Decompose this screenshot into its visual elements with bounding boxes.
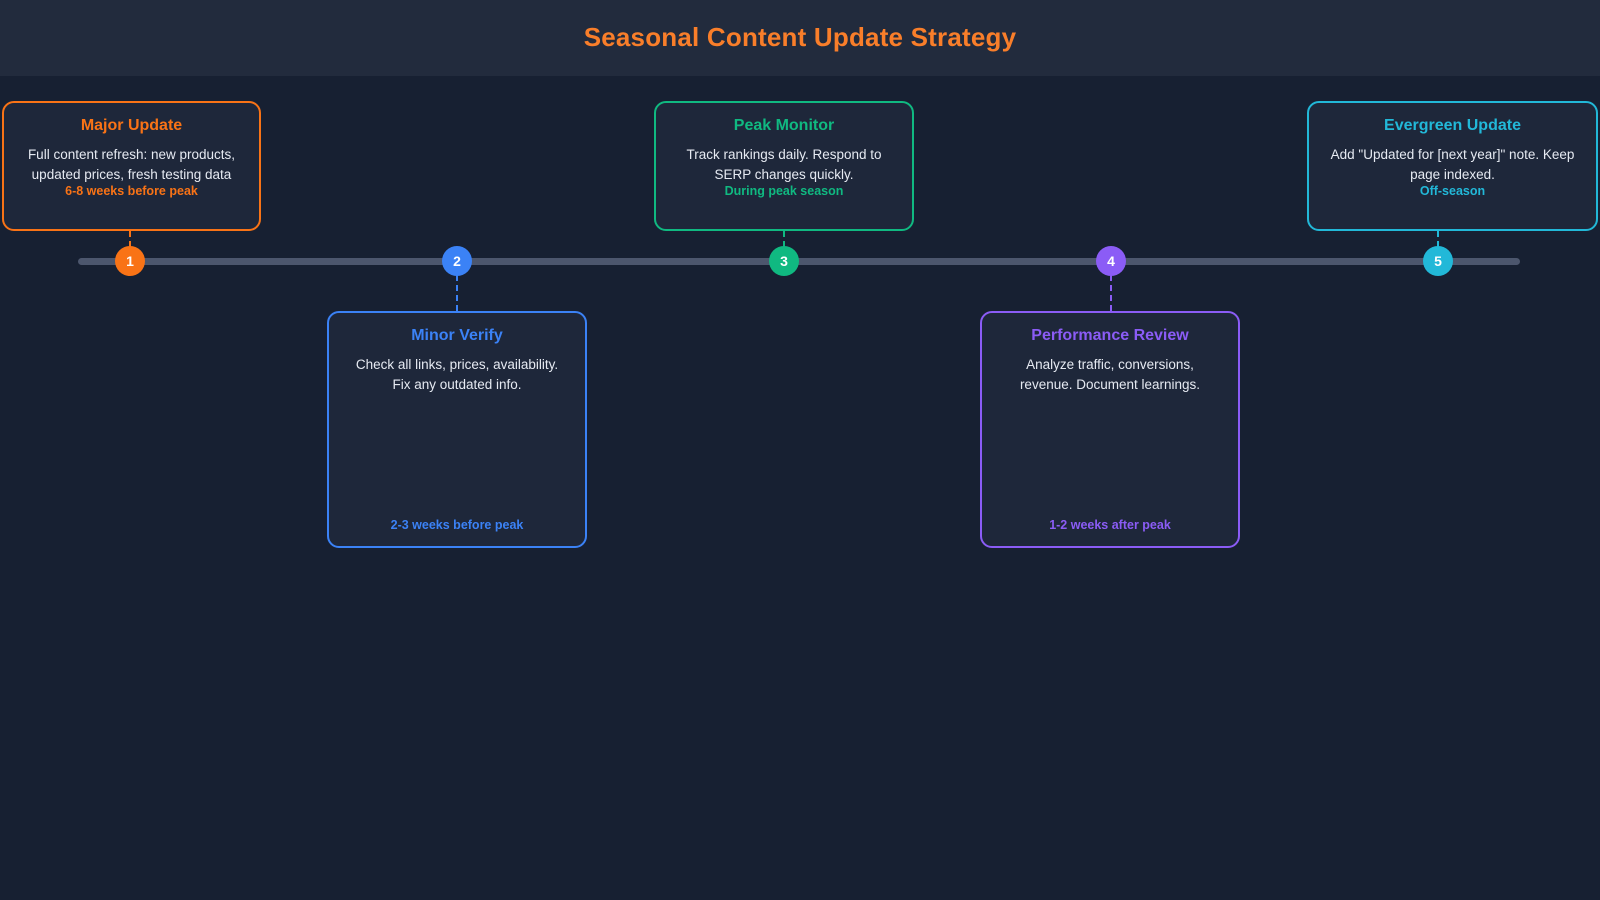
card-title: Evergreen Update — [1325, 117, 1580, 135]
card-timing-label: 2-3 weeks before peak — [345, 518, 569, 536]
connector-line-5 — [1437, 231, 1439, 247]
timeline-card-2[interactable]: Minor VerifyCheck all links, prices, ava… — [327, 311, 587, 548]
timeline-marker-4[interactable]: 4 — [1096, 246, 1126, 276]
card-title: Major Update — [20, 117, 243, 135]
connector-line-1 — [129, 231, 131, 247]
card-description: Check all links, prices, availability. F… — [345, 355, 569, 394]
connector-line-4 — [1110, 275, 1112, 311]
timeline-marker-2[interactable]: 2 — [442, 246, 472, 276]
card-timing-label: 1-2 weeks after peak — [998, 518, 1222, 536]
connector-line-2 — [456, 275, 458, 311]
timeline-marker-5[interactable]: 5 — [1423, 246, 1453, 276]
timeline-card-3[interactable]: Peak MonitorTrack rankings daily. Respon… — [654, 101, 914, 231]
card-title: Peak Monitor — [672, 117, 896, 135]
page-title: Seasonal Content Update Strategy — [0, 22, 1600, 53]
connector-line-3 — [783, 231, 785, 247]
card-description: Analyze traffic, conversions, revenue. D… — [998, 355, 1222, 394]
timeline-marker-3[interactable]: 3 — [769, 246, 799, 276]
card-timing-label: During peak season — [672, 184, 896, 198]
card-description: Full content refresh: new products, upda… — [20, 145, 243, 184]
card-body: Full content refresh: new products, upda… — [20, 145, 243, 203]
card-title: Minor Verify — [345, 327, 569, 345]
card-body: Track rankings daily. Respond to SERP ch… — [672, 145, 896, 203]
card-description: Track rankings daily. Respond to SERP ch… — [672, 145, 896, 184]
card-title: Performance Review — [998, 327, 1222, 345]
card-timing-label: Off-season — [1325, 184, 1580, 198]
timeline-card-4[interactable]: Performance ReviewAnalyze traffic, conve… — [980, 311, 1240, 548]
timeline-axis — [78, 258, 1520, 265]
card-description: Add "Updated for [next year]" note. Keep… — [1325, 145, 1580, 184]
card-timing-label: 6-8 weeks before peak — [20, 184, 243, 198]
timeline-card-5[interactable]: Evergreen UpdateAdd "Updated for [next y… — [1307, 101, 1598, 231]
timeline-card-1[interactable]: Major UpdateFull content refresh: new pr… — [2, 101, 261, 231]
timeline-marker-1[interactable]: 1 — [115, 246, 145, 276]
card-body: Add "Updated for [next year]" note. Keep… — [1325, 145, 1580, 203]
